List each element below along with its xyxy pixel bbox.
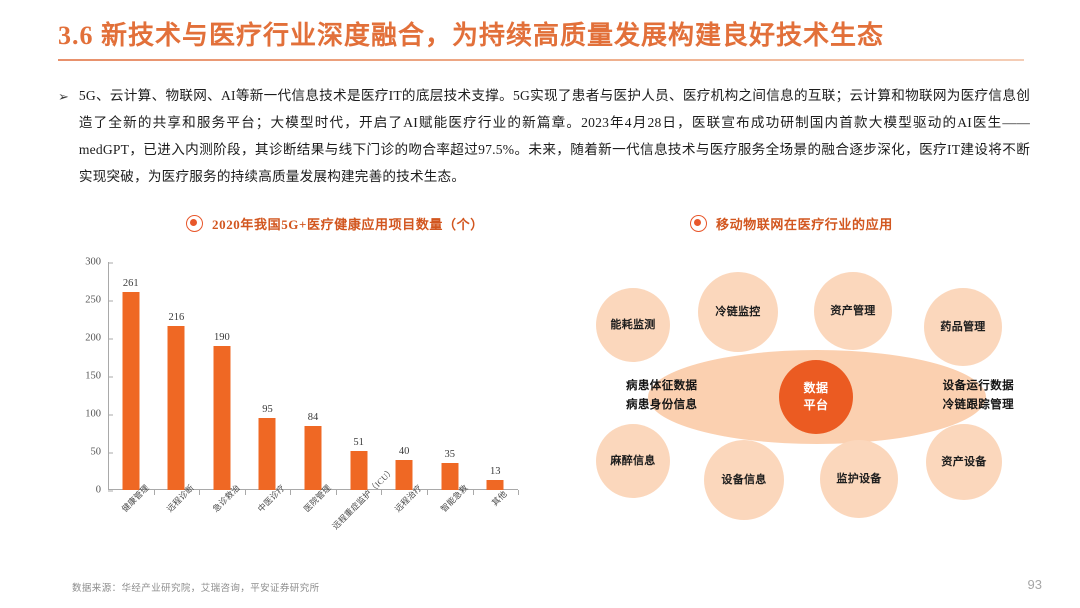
bullet-dot-icon <box>186 215 203 232</box>
lens-left-line1: 病患体征数据 <box>626 377 697 396</box>
x-label-cell: 医院管理 <box>290 492 336 552</box>
bar-cell: 13 <box>473 262 519 490</box>
slide-header: 3.6 新技术与医疗行业深度融合，为持续高质量发展构建良好技术生态 <box>58 18 1024 61</box>
bar <box>350 451 367 490</box>
diagram-node-assetdev: 资产设备 <box>926 424 1002 500</box>
diagram-node-coldchain: 冷链监控 <box>698 272 778 352</box>
bar <box>396 460 413 490</box>
bar-value-label: 40 <box>399 446 410 457</box>
bar-chart: 050100150200250300 261216190958451403513… <box>62 252 532 552</box>
y-axis-tick: 300 <box>85 257 108 268</box>
bar <box>305 426 322 490</box>
bar-value-label: 190 <box>214 332 230 343</box>
bar-value-label: 84 <box>308 412 319 423</box>
bar-cell: 51 <box>336 262 382 490</box>
bar <box>122 292 139 490</box>
diagram-node-label: 设备信息 <box>721 473 766 488</box>
diagram-node-asset: 资产管理 <box>814 272 892 350</box>
bar-cell: 216 <box>154 262 200 490</box>
diagram-node-label: 资产设备 <box>941 455 986 470</box>
x-label-cell: 急诊救治 <box>199 492 245 552</box>
diagram-node-anesthesia: 麻醉信息 <box>596 424 670 498</box>
x-axis-tick <box>518 490 519 495</box>
body-paragraph-block: ➢ 5G、云计算、物联网、AI等新一代信息技术是医疗IT的底层技术支撑。5G实现… <box>58 82 1030 190</box>
bullet-dot-icon <box>690 215 707 232</box>
chart-plot-area: 050100150200250300 261216190958451403513 <box>108 262 518 490</box>
diagram-node-label: 监护设备 <box>836 472 881 487</box>
bar-cell: 35 <box>427 262 473 490</box>
bar-cell: 40 <box>381 262 427 490</box>
page-title: 3.6 新技术与医疗行业深度融合，为持续高质量发展构建良好技术生态 <box>58 18 1024 54</box>
diagram-node-monitor: 监护设备 <box>820 440 898 518</box>
bar-cell: 190 <box>199 262 245 490</box>
diagram-node-device: 设备信息 <box>704 440 784 520</box>
bar-cell: 84 <box>290 262 336 490</box>
bar-value-label: 216 <box>168 312 184 323</box>
core-line1: 数据 <box>803 380 828 397</box>
x-label-cell: 远程治疗 <box>381 492 427 552</box>
bar <box>441 463 458 490</box>
diagram-node-label: 资产管理 <box>830 304 875 319</box>
y-axis-tick: 200 <box>85 333 108 344</box>
bar <box>259 418 276 490</box>
core-line2: 平台 <box>803 397 828 414</box>
lens-right-line1: 设备运行数据 <box>943 377 1014 396</box>
x-label-cell: 远程重症监护（ICU） <box>336 492 382 552</box>
x-label-cell: 远程诊断 <box>154 492 200 552</box>
bar-value-label: 13 <box>490 466 501 477</box>
page-number: 93 <box>1028 577 1042 592</box>
lens-right-text: 设备运行数据 冷链跟踪管理 <box>943 377 1014 415</box>
x-label-cell: 中医诊疗 <box>245 492 291 552</box>
lens-right-line2: 冷链跟踪管理 <box>943 396 1014 415</box>
source-note: 数据来源：华经产业研究院，艾瑞咨询，平安证券研究所 <box>72 580 320 594</box>
y-axis-tick: 0 <box>96 485 108 496</box>
x-label-cell: 健康管理 <box>108 492 154 552</box>
bar-cell: 95 <box>245 262 291 490</box>
diagram-node-energy: 能耗监测 <box>596 288 670 362</box>
arrow-bullet-icon: ➢ <box>58 82 69 190</box>
diagram-node-label: 药品管理 <box>940 320 985 335</box>
bar <box>168 326 185 490</box>
left-chart-heading: 2020年我国5G+医疗健康应用项目数量（个） <box>186 214 484 233</box>
title-divider <box>58 59 1024 61</box>
bar <box>213 346 230 490</box>
x-label-cell: 其他 <box>473 492 519 552</box>
bar-series: 261216190958451403513 <box>108 262 518 490</box>
x-axis-labels: 健康管理远程诊断急诊救治中医诊疗医院管理远程重症监护（ICU）远程治疗智能急救其… <box>108 492 518 552</box>
bar-value-label: 35 <box>444 449 455 460</box>
y-axis-tick: 50 <box>91 447 109 458</box>
left-chart-heading-label: 2020年我国5G+医疗健康应用项目数量（个） <box>212 214 484 233</box>
diagram-node-label: 冷链监控 <box>715 305 760 320</box>
y-axis-tick: 100 <box>85 409 108 420</box>
bar-value-label: 261 <box>123 278 139 289</box>
right-diagram-heading-label: 移动物联网在医疗行业的应用 <box>716 214 893 233</box>
lens-left-text: 病患体征数据 病患身份信息 <box>626 377 697 415</box>
lens-left-line2: 病患身份信息 <box>626 396 697 415</box>
diagram-core-node: 数据 平台 <box>779 360 853 434</box>
x-label-cell: 智能急救 <box>427 492 473 552</box>
bar-cell: 261 <box>108 262 154 490</box>
diagram-node-label: 麻醉信息 <box>610 454 655 469</box>
body-paragraph-text: 5G、云计算、物联网、AI等新一代信息技术是医疗IT的底层技术支撑。5G实现了患… <box>79 82 1030 190</box>
diagram-node-label: 能耗监测 <box>610 318 655 333</box>
diagram-node-drug: 药品管理 <box>924 288 1002 366</box>
bar-value-label: 95 <box>262 404 273 415</box>
y-axis-tick: 150 <box>85 371 108 382</box>
iot-hub-diagram: 病患体征数据 病患身份信息 设备运行数据 冷链跟踪管理 数据 平台 能耗监测 冷… <box>592 272 1040 520</box>
right-diagram-heading: 移动物联网在医疗行业的应用 <box>690 214 893 233</box>
bar-value-label: 51 <box>353 437 364 448</box>
y-axis-tick: 250 <box>85 295 108 306</box>
x-axis-label: 其他 <box>489 488 510 509</box>
